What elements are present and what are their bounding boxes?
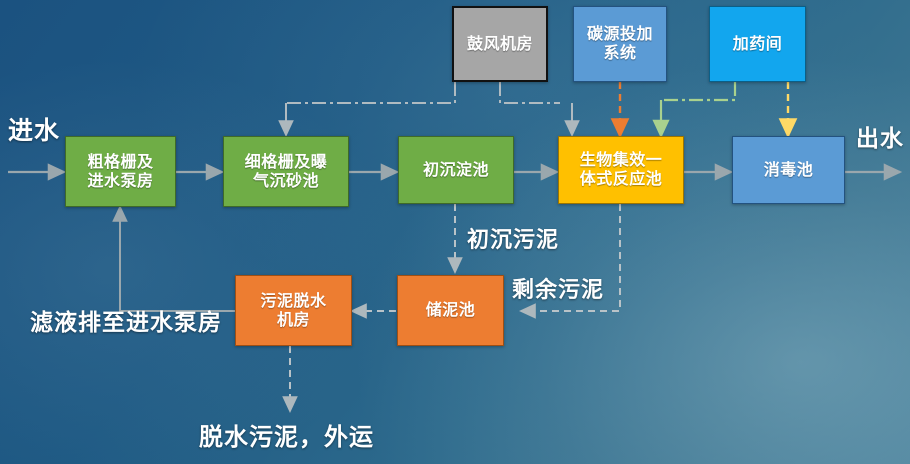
node-fine-screen-grit-chamber-line-1: 气沉砂池 xyxy=(245,172,328,191)
node-sludge-storage-tank[interactable]: 储泥池 xyxy=(397,275,504,346)
node-carbon-dosing-system[interactable]: 碳源投加 系统 xyxy=(573,6,667,82)
node-dosing-room[interactable]: 加药间 xyxy=(709,6,806,82)
label-primary-sludge: 初沉污泥 xyxy=(467,222,559,254)
node-sludge-storage-tank-line-0: 储泥池 xyxy=(426,301,476,320)
node-dosing-room-line-0: 加药间 xyxy=(733,35,783,54)
node-integrated-bio-reactor-line-1: 体式反应池 xyxy=(580,170,663,189)
label-outlet: 出水 xyxy=(856,119,904,153)
node-disinfection-tank-line-0: 消毒池 xyxy=(764,161,814,180)
node-integrated-bio-reactor[interactable]: 生物集效一 体式反应池 xyxy=(558,136,684,204)
label-filtrate-return: 滤液排至进水泵房 xyxy=(30,303,222,337)
node-disinfection-tank[interactable]: 消毒池 xyxy=(732,136,845,204)
edge-blower-trunk2 xyxy=(500,82,560,103)
node-carbon-dosing-system-line-1: 系统 xyxy=(587,44,653,63)
label-excess-sludge: 剩余污泥 xyxy=(512,272,604,304)
node-sludge-dewatering-house-line-1: 机房 xyxy=(260,311,326,330)
edge-blower-trunk xyxy=(286,82,455,103)
node-fine-screen-grit-chamber-line-0: 细格栅及曝 xyxy=(245,153,328,172)
edge-filtrate-return xyxy=(120,207,236,311)
node-carbon-dosing-system-line-0: 碳源投加 xyxy=(587,25,653,44)
node-coarse-screen-pump-house-line-1: 进水泵房 xyxy=(87,172,153,191)
node-coarse-screen-pump-house-line-0: 粗格栅及 xyxy=(87,153,153,172)
node-integrated-bio-reactor-line-0: 生物集效一 xyxy=(580,151,663,170)
edge-dosing-green-trunk xyxy=(661,82,735,100)
node-coarse-screen-pump-house[interactable]: 粗格栅及 进水泵房 xyxy=(65,136,176,207)
node-blower-house-line-0: 鼓风机房 xyxy=(467,35,533,54)
label-dewatered-sludge: 脱水污泥，外运 xyxy=(199,417,374,452)
node-blower-house[interactable]: 鼓风机房 xyxy=(452,6,548,82)
flowchart-canvas: 鼓风机房 碳源投加 系统 加药间 粗格栅及 进水泵房 细格栅及曝 气沉砂池 初沉… xyxy=(0,0,910,464)
label-inlet: 进水 xyxy=(8,111,60,147)
node-sludge-dewatering-house-line-0: 污泥脱水 xyxy=(260,292,326,311)
node-primary-sedimentation-tank[interactable]: 初沉淀池 xyxy=(398,136,514,204)
node-fine-screen-grit-chamber[interactable]: 细格栅及曝 气沉砂池 xyxy=(223,136,349,207)
node-sludge-dewatering-house[interactable]: 污泥脱水 机房 xyxy=(235,275,352,346)
node-primary-sedimentation-tank-line-0: 初沉淀池 xyxy=(423,161,489,180)
